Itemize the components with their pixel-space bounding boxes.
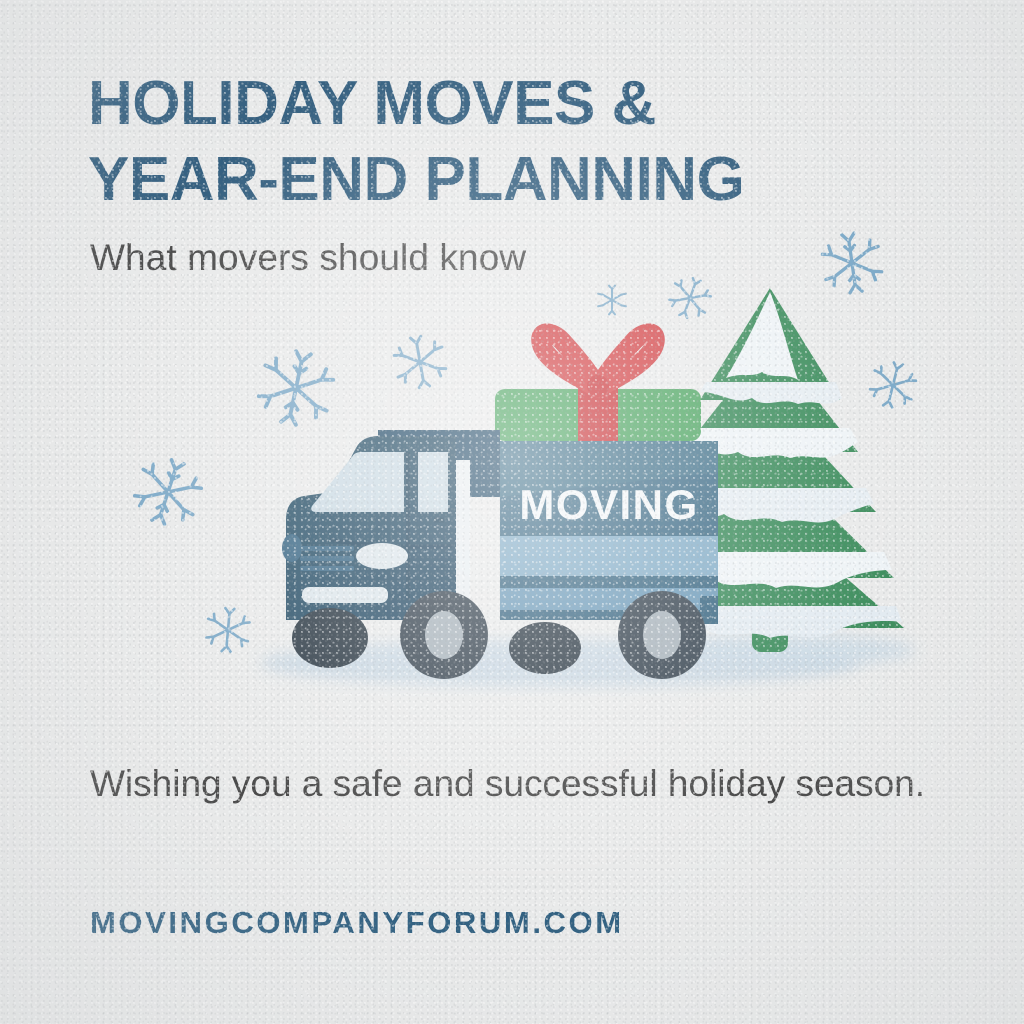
subtitle: What movers should know	[90, 237, 526, 279]
closing-message: Wishing you a safe and successful holida…	[90, 754, 930, 814]
snowflake-icon	[255, 346, 338, 431]
snowflake-icon	[867, 358, 919, 411]
gift-box	[495, 333, 701, 443]
snowflake-icon	[820, 230, 884, 296]
snowflake-icon	[665, 273, 714, 323]
website-url[interactable]: MOVINGCOMPANYFORUM.COM	[90, 905, 624, 941]
truck-body-label: MOVING	[519, 481, 698, 528]
snowflake-icon	[392, 333, 449, 391]
poster-canvas: MOVING	[0, 0, 1024, 1024]
headline-line-1: HOLIDAY MOVES &	[88, 69, 656, 138]
headline-line-2: YEAR-END PLANNING	[88, 142, 918, 218]
page-title: HOLIDAY MOVES & YEAR-END PLANNING	[88, 66, 918, 217]
snowflake-icon	[598, 286, 626, 315]
snowflake-icon	[129, 452, 207, 531]
snowflake-icon	[205, 607, 250, 654]
